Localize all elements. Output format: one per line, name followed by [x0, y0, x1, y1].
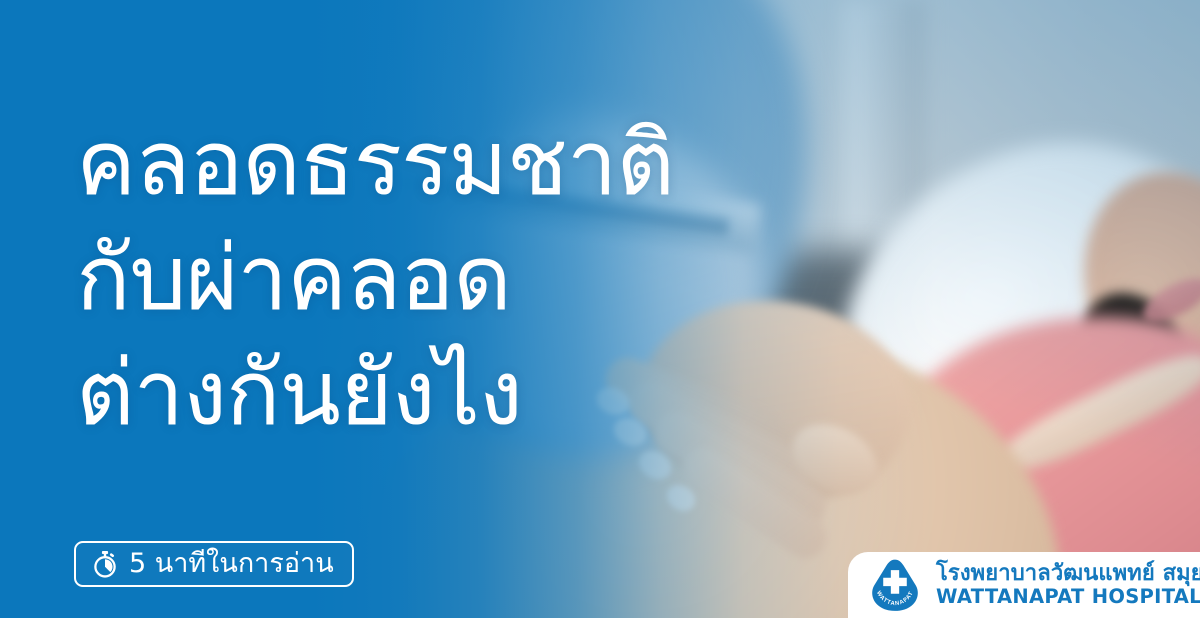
page-title-line-2: กับผ่าคลอด — [76, 221, 836, 336]
hospital-logo-panel: WATTANAPAT โรงพยาบาลวัฒนแพทย์ สมุย WATTA… — [848, 552, 1200, 618]
hospital-name-th: โรงพยาบาลวัฒนแพทย์ สมุย — [936, 563, 1200, 585]
page-title-line-3: ต่างกันยังไง — [76, 336, 836, 451]
hospital-cross-shield-icon: WATTANAPAT — [866, 556, 924, 614]
reading-time-label: 5 นาทีในการอ่าน — [129, 550, 334, 577]
bottom-white-bar — [0, 618, 1200, 630]
reading-time-badge: 5 นาทีในการอ่าน — [74, 541, 354, 587]
page-title: คลอดธรรมชาติ กับผ่าคลอด ต่างกันยังไง — [76, 106, 836, 451]
stopwatch-icon — [91, 550, 119, 578]
hospital-logo-text: โรงพยาบาลวัฒนแพทย์ สมุย WATTANAPAT HOSPI… — [936, 563, 1200, 607]
article-cover-banner: คลอดธรรมชาติ กับผ่าคลอด ต่างกันยังไง 5 น… — [0, 0, 1200, 630]
hospital-name-en: WATTANAPAT HOSPITAL SAMUI — [936, 587, 1200, 607]
page-title-line-1: คลอดธรรมชาติ — [76, 106, 836, 221]
